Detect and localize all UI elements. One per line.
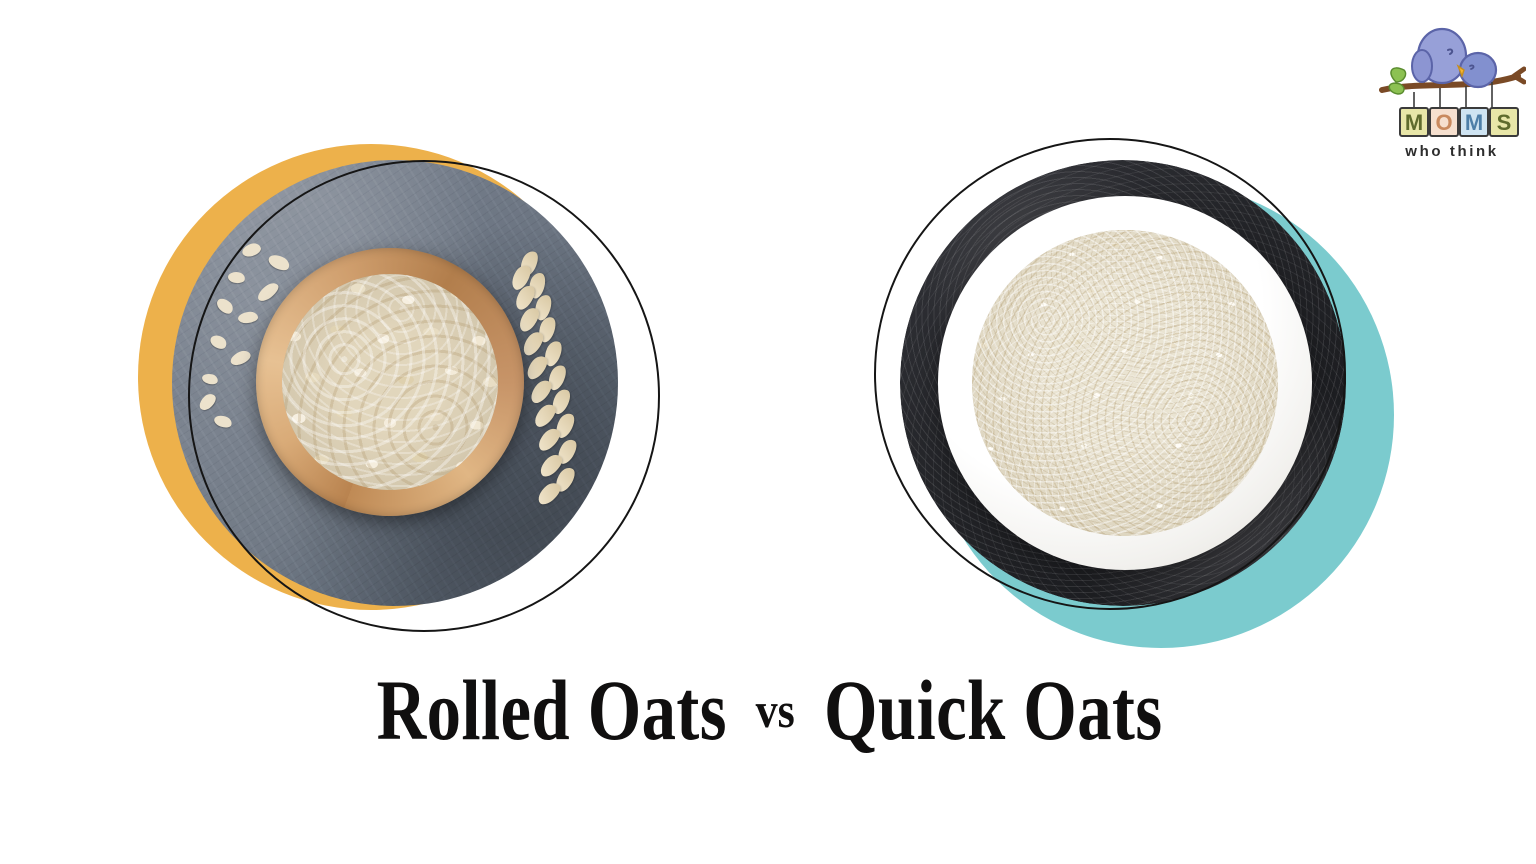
baby-bird-body-icon xyxy=(1460,53,1496,87)
logo-tagline: who think xyxy=(1404,143,1498,160)
wordmark-letter-3: M xyxy=(1465,110,1483,135)
wordmark-letter-2: O xyxy=(1435,110,1452,135)
bird-wing-icon xyxy=(1412,50,1432,82)
outline-ring xyxy=(188,160,660,632)
versus-label: vs xyxy=(756,662,795,758)
branch-tip-icon xyxy=(1514,69,1524,82)
comparison-item-rolled-oats xyxy=(130,130,670,650)
outline-ring xyxy=(874,138,1346,610)
leaf-icon xyxy=(1389,83,1404,94)
leaf-icon xyxy=(1391,68,1406,82)
comparison-graphic: M O M S who think xyxy=(0,0,1536,864)
wordmark-blocks: M O M S xyxy=(1400,108,1518,136)
rolled-oats-title: Rolled Oats xyxy=(377,662,727,758)
quick-oats-title: Quick Oats xyxy=(824,662,1163,758)
caption-row: Rolled Oats vs Quick Oats xyxy=(0,662,1536,772)
comparison-item-quick-oats xyxy=(868,130,1408,650)
wordmark-letter-4: S xyxy=(1497,110,1512,135)
